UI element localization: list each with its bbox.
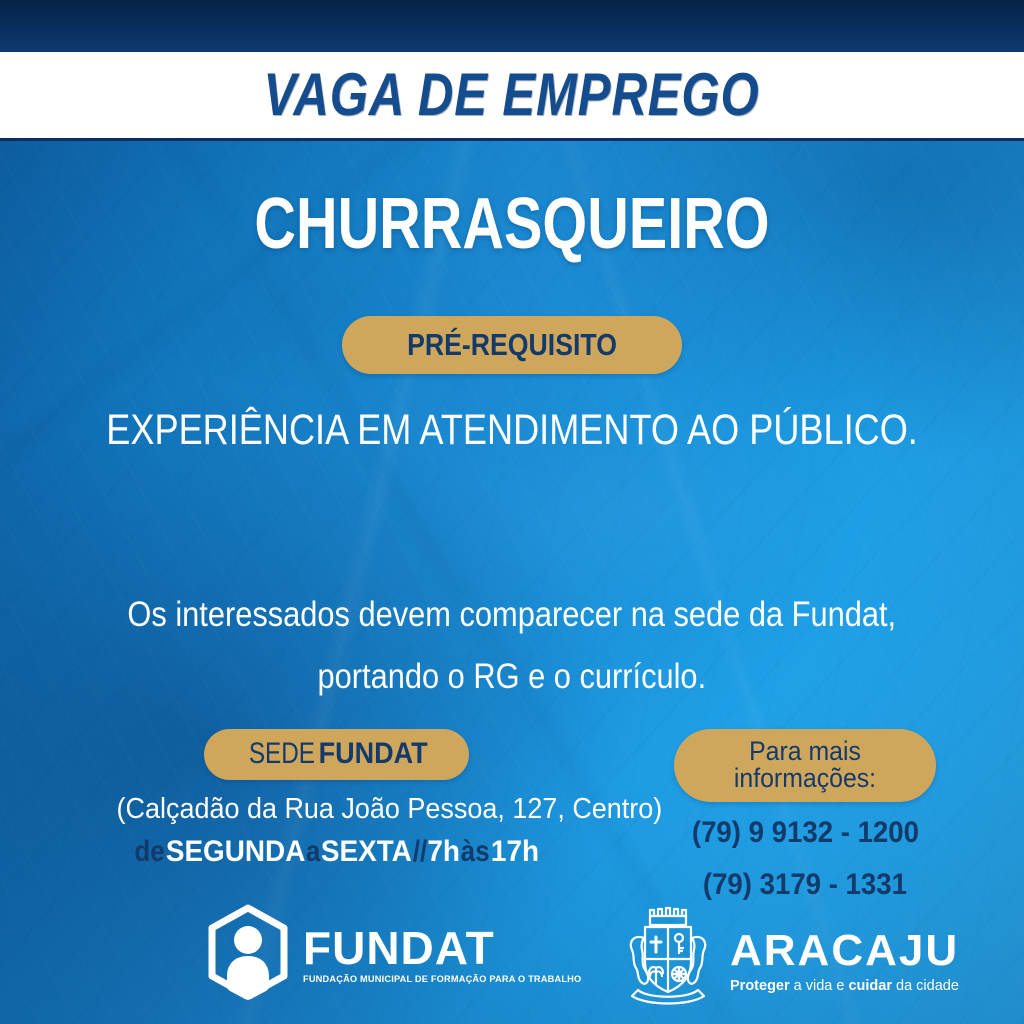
requirement-text-row: EXPERIÊNCIA EM ATENDIMENTO AO PÚBLICO. [0,409,1024,452]
hours-text-row: de SEGUNDA a SEXTA // 7h às 17h [96,834,576,870]
more-info-label: Para mais informações: [684,738,925,792]
aracaju-tagline-end: da cidade [892,978,959,994]
hours-prefix: de [134,834,164,870]
instructions-line: Os interessados devem comparecer na sede… [0,584,1024,646]
instructions-line-1: Os interessados devem comparecer na sede… [128,584,897,646]
hours-text: de SEGUNDA a SEXTA // 7h às 17h [133,834,539,870]
sede-strong: FUNDAT [318,737,427,770]
footer-logos: FUNDAT FUNDAÇÃO MUNICIPAL DE FORMAÇÃO PA… [0,904,1024,1014]
hours-time-end: 17h [491,835,539,868]
address-text-row: (Calçadão da Rua João Pessoa, 127, Centr… [96,791,576,827]
top-navy-band [0,0,1024,52]
fundat-name: FUNDAT [303,925,590,971]
fundat-logo: FUNDAT FUNDAÇÃO MUNICIPAL DE FORMAÇÃO PA… [205,904,590,1000]
sede-fundat-badge: SEDE FUNDAT [204,729,469,780]
aracaju-tagline-bold-1: Proteger [730,978,790,994]
job-title: CHURRASQUEIRO [102,188,921,260]
fundat-wordmark: FUNDAT FUNDAÇÃO MUNICIPAL DE FORMAÇÃO PA… [303,919,590,985]
contact-block: Para mais informações: (79) 9 9132 - 120… [640,729,970,900]
aracaju-wordmark: ARACAJU Proteger a vida e cuidar da cida… [730,919,959,994]
hours-day-end: SEXTA [321,835,412,868]
prerequisite-badge: PRÉ-REQUISITO [342,316,682,374]
phone-number-2: (79) 3179 - 1331 [703,870,907,900]
aracaju-coat-of-arms-icon [620,904,716,1008]
aracaju-name: ARACAJU [730,929,959,973]
hours-time-start: 7h [427,835,460,868]
poster-content: CHURRASQUEIRO PRÉ-REQUISITO EXPERIÊNCIA … [0,141,1024,1024]
hours-time-joiner: às [461,834,490,870]
sede-fundat-label: SEDE FUNDAT [245,739,428,769]
instructions-line: portando o RG e o currículo. [0,646,1024,708]
instructions-block: Os interessados devem comparecer na sede… [0,584,1024,708]
job-vacancy-poster: VAGA DE EMPREGO CHURRASQUEIRO PRÉ-REQUIS… [0,0,1024,1024]
fundat-person-hexagon-icon [205,904,291,1000]
fundat-tagline: FUNDAÇÃO MUNICIPAL DE FORMAÇÃO PARA O TR… [303,975,581,985]
aracaju-logo: ARACAJU Proteger a vida e cuidar da cida… [620,904,959,1008]
phone-number-row[interactable]: (79) 9 9132 - 1200 [640,818,970,848]
hours-middle: a [306,834,320,870]
aracaju-tagline-mid: a vida e [790,978,849,994]
banner-title-band: VAGA DE EMPREGO [0,52,1024,141]
hours-separator: // [412,834,426,870]
hours-day-start: SEGUNDA [166,835,306,868]
banner-title: VAGA DE EMPREGO [264,65,760,125]
phone-number-1: (79) 9 9132 - 1200 [691,818,918,848]
sede-prefix: SEDE [248,739,314,769]
more-info-badge: Para mais informações: [674,729,936,802]
requirement-text: EXPERIÊNCIA EM ATENDIMENTO AO PÚBLICO. [106,409,918,452]
prerequisite-label: PRÉ-REQUISITO [407,329,617,360]
instructions-line-2: portando o RG e o currículo. [318,646,707,708]
aracaju-tagline-bold-2: cuidar [848,978,892,994]
address-text: (Calçadão da Rua João Pessoa, 127, Centr… [117,791,663,827]
location-block: SEDE FUNDAT (Calçadão da Rua João Pessoa… [96,729,576,870]
aracaju-tagline: Proteger a vida e cuidar da cidade [730,979,959,994]
prerequisite-row: PRÉ-REQUISITO [0,316,1024,374]
phone-number-row[interactable]: (79) 3179 - 1331 [640,870,970,900]
